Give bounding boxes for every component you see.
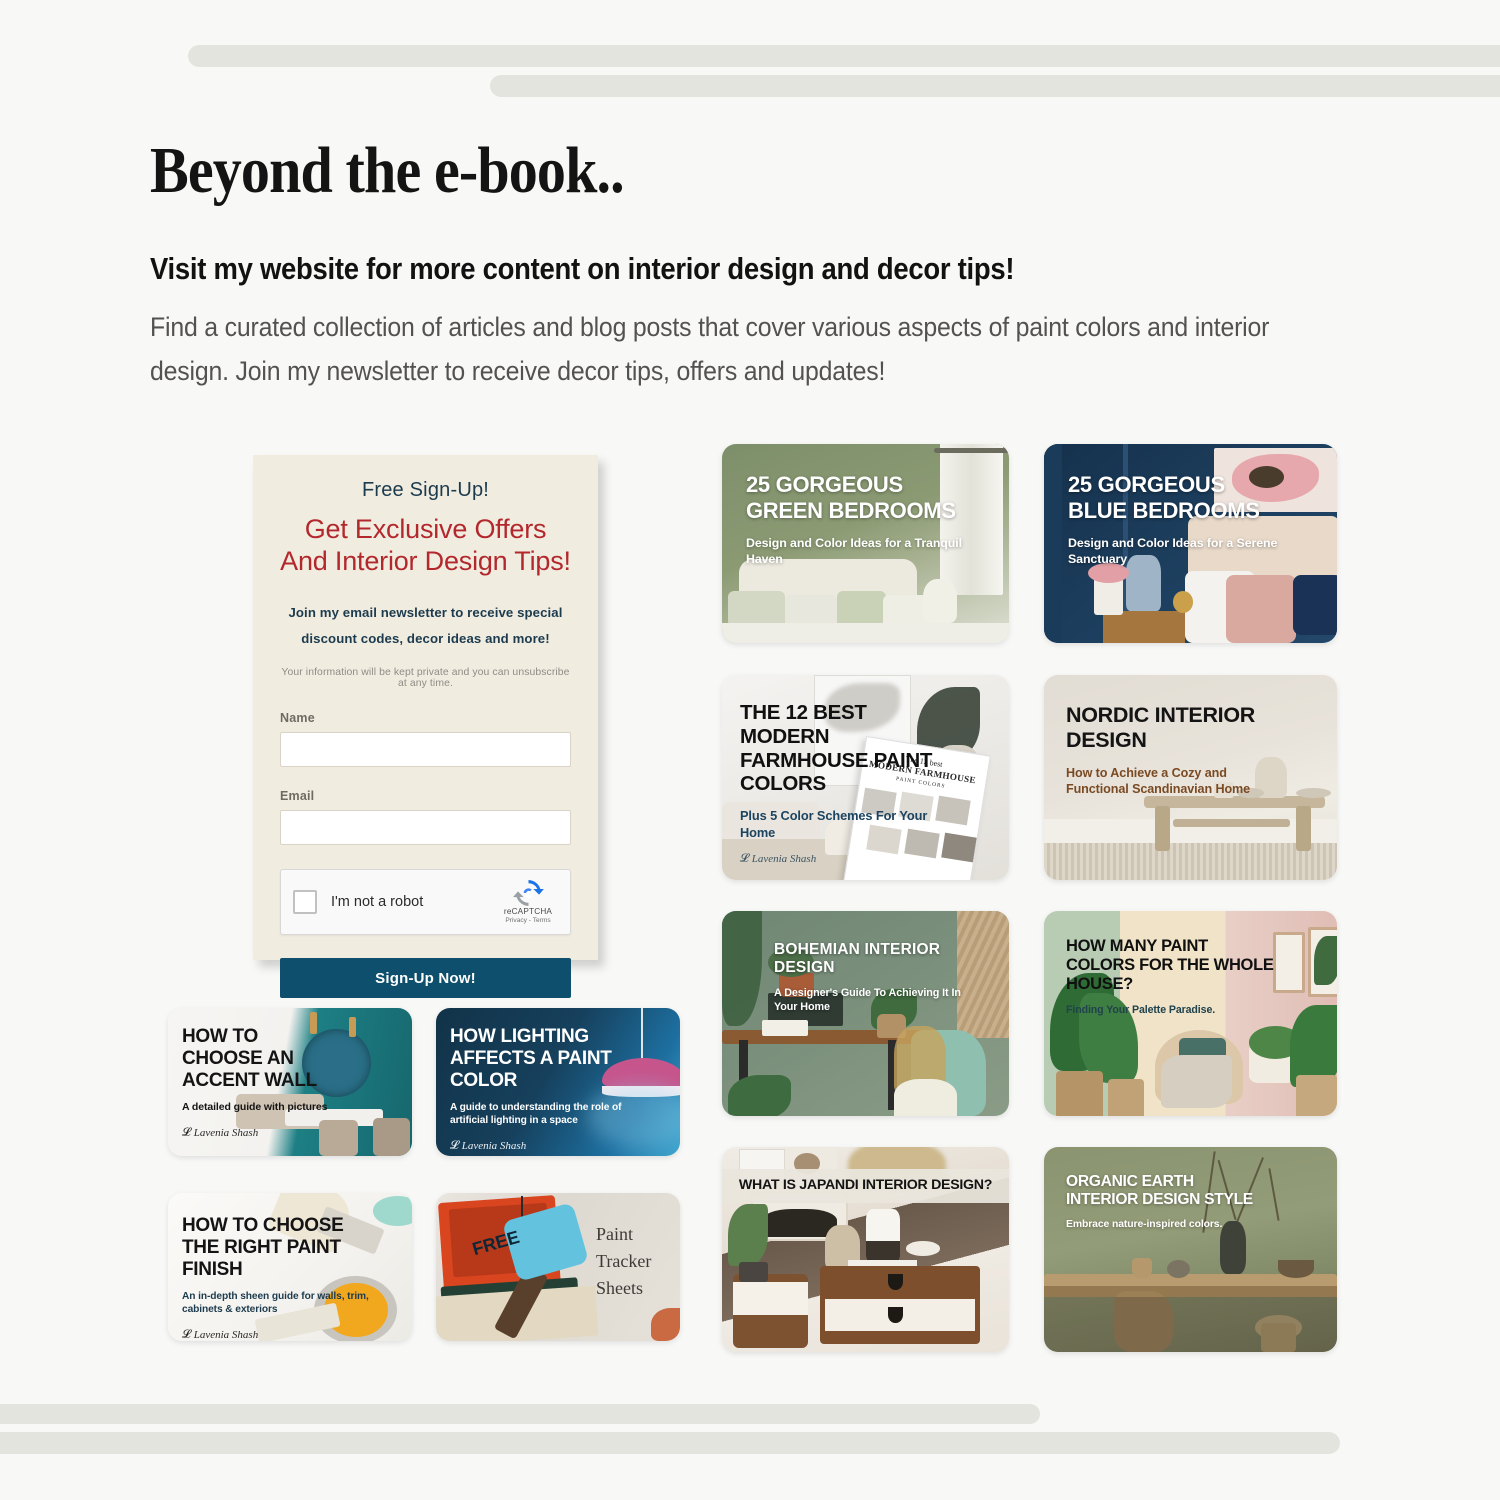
pin-card-farmhouse-colors[interactable]: The 12 best MODERN FARMHOUSE PAINT COLOR… — [722, 675, 1009, 880]
pin-copy-blue-bedrooms: 25 GORGEOUS BLUE BEDROOMS Design and Col… — [1068, 472, 1286, 567]
pin-card-how-many-colors[interactable]: HOW MANY PAINT COLORS FOR THE WHOLE HOUS… — [1044, 911, 1337, 1116]
pin-card-nordic-design[interactable]: NORDIC INTERIOR DESIGN How to Achieve a … — [1044, 675, 1337, 880]
top-rail-upper — [188, 45, 1500, 67]
recaptcha-widget[interactable]: I'm not a robot reCAPTCHA Privacy - Term… — [280, 869, 571, 935]
page-subtitle: Visit my website for more content on int… — [150, 252, 1257, 287]
pin-title: WHAT IS JAPANDI INTERIOR DESIGN? — [722, 1177, 1009, 1193]
recaptcha-label: I'm not a robot — [331, 894, 423, 910]
pin-subtitle: Finding Your Palette Paradise. — [1066, 1004, 1274, 1018]
signup-subhead: Join my email newsletter to receive spec… — [280, 600, 571, 651]
top-rail-lower — [490, 75, 1500, 97]
pin-copy-lighting: HOW LIGHTING AFFECTS A PAINT COLOR A gui… — [450, 1026, 625, 1153]
pin-copy-how-many-colors: HOW MANY PAINT COLORS FOR THE WHOLE HOUS… — [1066, 937, 1274, 1018]
pin-subtitle: An in-depth sheen guide for walls, trim,… — [182, 1290, 370, 1317]
recaptcha-branding: reCAPTCHA Privacy - Terms — [498, 880, 558, 924]
email-input[interactable] — [280, 810, 571, 845]
recaptcha-legal-text[interactable]: Privacy - Terms — [498, 917, 558, 924]
newsletter-signup-card: Free Sign-Up! Get Exclusive Offers And I… — [253, 455, 598, 960]
pin-title: HOW LIGHTING AFFECTS A PAINT COLOR — [450, 1026, 625, 1092]
pin-signature: Lavenia Shash — [182, 1327, 370, 1341]
pin-copy-accent-wall: HOW TO CHOOSE AN ACCENT WALL A detailed … — [182, 1026, 332, 1140]
signup-submit-button[interactable]: Sign-Up Now! — [280, 958, 571, 998]
page-title: Beyond the e-book.. — [150, 135, 1232, 206]
recaptcha-brand-text: reCAPTCHA — [498, 907, 558, 916]
pin-title: THE 12 BEST MODERN FARMHOUSE PAINT COLOR… — [740, 701, 938, 796]
pin-card-blue-bedrooms[interactable]: 25 GORGEOUS BLUE BEDROOMS Design and Col… — [1044, 444, 1337, 643]
pin-title: HOW MANY PAINT COLORS FOR THE WHOLE HOUS… — [1066, 937, 1274, 994]
pin-card-green-bedrooms[interactable]: 25 GORGEOUS GREEN BEDROOMS Design and Co… — [722, 444, 1009, 643]
pin-signature: Lavenia Shash — [182, 1125, 332, 1140]
pin-card-paint-tracker[interactable]: FREE Paint Tracker Sheets — [436, 1193, 680, 1341]
pin-title: 25 GORGEOUS GREEN BEDROOMS — [746, 472, 968, 523]
pin-subtitle: How to Achieve a Cozy and Functional Sca… — [1066, 765, 1284, 798]
recaptcha-icon — [512, 880, 545, 906]
pin-card-organic-earth[interactable]: ORGANIC EARTH INTERIOR DESIGN STYLE Embr… — [1044, 1147, 1337, 1352]
pin-title-paint-tracker: Paint Tracker Sheets — [596, 1221, 674, 1302]
pin-signature: Lavenia Shash — [740, 851, 938, 866]
signup-headline: Get Exclusive Offers And Interior Design… — [280, 513, 571, 578]
pin-subtitle: A Designer's Guide To Achieving It In Yo… — [774, 986, 984, 1014]
signup-kicker: Free Sign-Up! — [280, 479, 571, 502]
pin-copy-farmhouse-colors: THE 12 BEST MODERN FARMHOUSE PAINT COLOR… — [740, 701, 938, 866]
page-header: Beyond the e-book.. Visit my website for… — [150, 135, 1380, 393]
pin-title: HOW TO CHOOSE THE RIGHT PAINT FINISH — [182, 1215, 370, 1281]
pin-copy-organic-earth: ORGANIC EARTH INTERIOR DESIGN STYLE Embr… — [1066, 1173, 1266, 1232]
recaptcha-checkbox[interactable] — [293, 890, 317, 914]
pin-subtitle: A detailed guide with pictures — [182, 1101, 332, 1115]
bottom-rail-lower — [0, 1432, 1340, 1454]
pin-copy-nordic-design: NORDIC INTERIOR DESIGN How to Achieve a … — [1066, 703, 1284, 798]
page-root: Beyond the e-book.. Visit my website for… — [0, 0, 1500, 1500]
pin-signature: Lavenia Shash — [450, 1138, 625, 1153]
pin-card-accent-wall[interactable]: HOW TO CHOOSE AN ACCENT WALL A detailed … — [168, 1008, 412, 1156]
pin-title: HOW TO CHOOSE AN ACCENT WALL — [182, 1026, 332, 1092]
name-input[interactable] — [280, 732, 571, 767]
pin-copy-japandi: WHAT IS JAPANDI INTERIOR DESIGN? — [722, 1177, 1009, 1193]
pin-title: NORDIC INTERIOR DESIGN — [1066, 703, 1284, 753]
pin-copy-bohemian-design: BOHEMIAN INTERIOR DESIGN A Designer's Gu… — [774, 941, 984, 1014]
pin-subtitle: Plus 5 Color Schemes For Your Home — [740, 808, 938, 841]
pin-copy-green-bedrooms: 25 GORGEOUS GREEN BEDROOMS Design and Co… — [746, 472, 968, 567]
pin-subtitle: Design and Color Ideas for a Serene Sanc… — [1068, 535, 1286, 567]
pin-subtitle: A guide to understanding the role of art… — [450, 1101, 625, 1128]
bottom-rail-upper — [0, 1404, 1040, 1424]
pin-title: BOHEMIAN INTERIOR DESIGN — [774, 941, 984, 977]
pin-card-japandi[interactable]: WHAT IS JAPANDI INTERIOR DESIGN? — [722, 1147, 1009, 1352]
pin-title: ORGANIC EARTH INTERIOR DESIGN STYLE — [1066, 1173, 1266, 1209]
pin-card-bohemian-design[interactable]: BOHEMIAN INTERIOR DESIGN A Designer's Gu… — [722, 911, 1009, 1116]
name-field-label: Name — [280, 711, 571, 725]
email-field-label: Email — [280, 789, 571, 803]
signup-fineprint: Your information will be kept private an… — [280, 667, 571, 689]
pin-copy-paint-finish: HOW TO CHOOSE THE RIGHT PAINT FINISH An … — [182, 1215, 370, 1341]
pin-subtitle: Embrace nature-inspired colors. — [1066, 1218, 1266, 1232]
pin-subtitle: Design and Color Ideas for a Tranquil Ha… — [746, 535, 968, 567]
pin-title: 25 GORGEOUS BLUE BEDROOMS — [1068, 472, 1286, 523]
pin-card-paint-finish[interactable]: HOW TO CHOOSE THE RIGHT PAINT FINISH An … — [168, 1193, 412, 1341]
page-lede: Find a curated collection of articles an… — [150, 305, 1282, 393]
pin-card-lighting[interactable]: HOW LIGHTING AFFECTS A PAINT COLOR A gui… — [436, 1008, 680, 1156]
